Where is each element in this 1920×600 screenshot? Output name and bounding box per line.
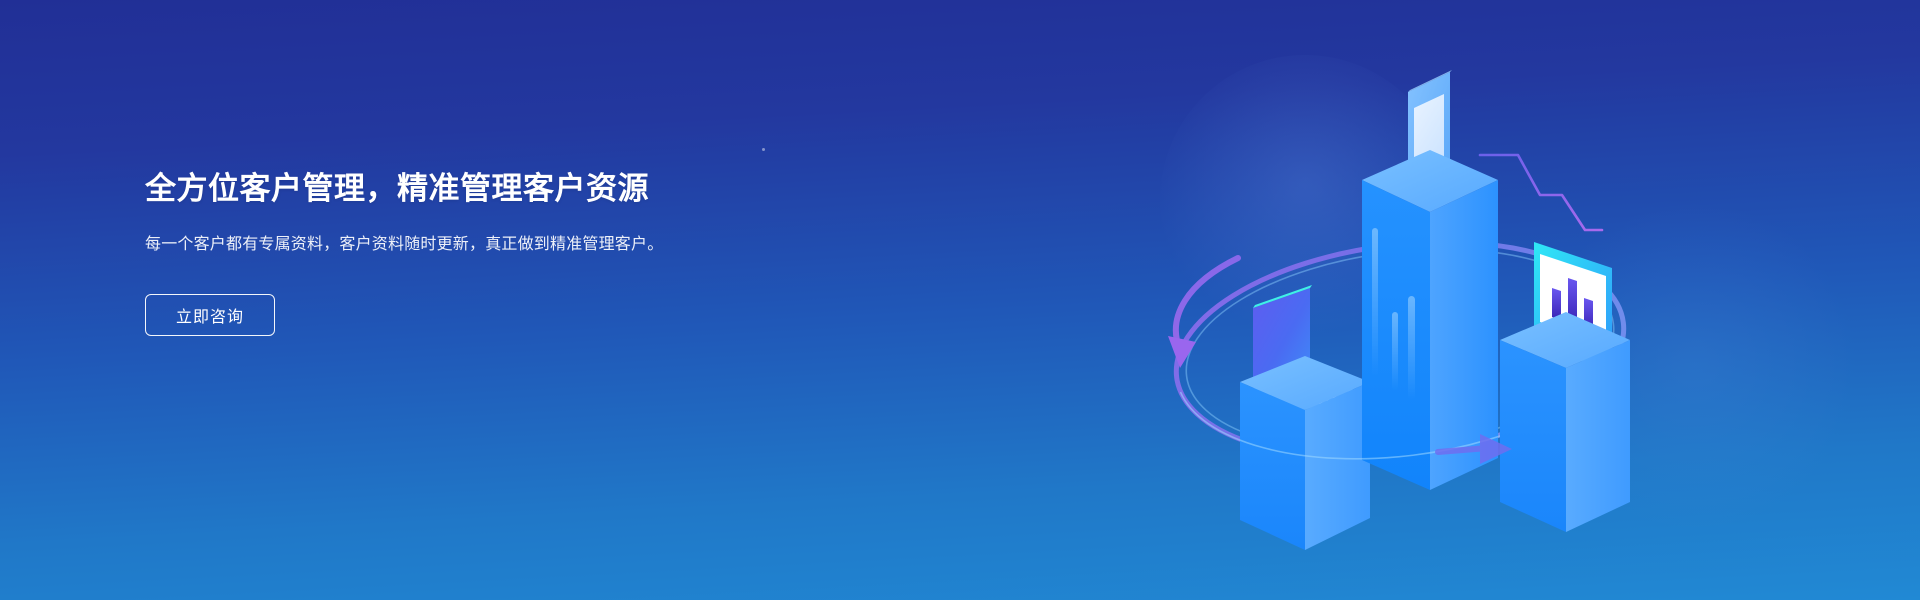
hero-copy: 全方位客户管理，精准管理客户资源 每一个客户都有专属资料，客户资料随时更新，真正… (145, 168, 785, 336)
hero-illustration (1120, 20, 1680, 580)
pillar-right-side (1566, 340, 1630, 532)
polyline-connector-icon (1480, 155, 1602, 230)
page-title: 全方位客户管理，精准管理客户资源 (145, 168, 785, 210)
pillar-center-tablet (1362, 70, 1498, 490)
pillar-right-monitor (1500, 242, 1630, 532)
pillar-right-front (1500, 340, 1566, 532)
arrow-left-down-icon (1168, 258, 1238, 368)
consult-now-button[interactable]: 立即咨询 (145, 294, 275, 336)
pillar-left-front (1240, 382, 1305, 550)
sparkle-icon (762, 148, 765, 151)
pillar-left-laptop (1240, 285, 1370, 550)
hero-subtitle: 每一个客户都有专属资料，客户资料随时更新，真正做到精准管理客户。 (145, 232, 725, 258)
hero-banner: 全方位客户管理，精准管理客户资源 每一个客户都有专属资料，客户资料随时更新，真正… (0, 0, 1920, 600)
pillar-left-side (1305, 382, 1370, 550)
